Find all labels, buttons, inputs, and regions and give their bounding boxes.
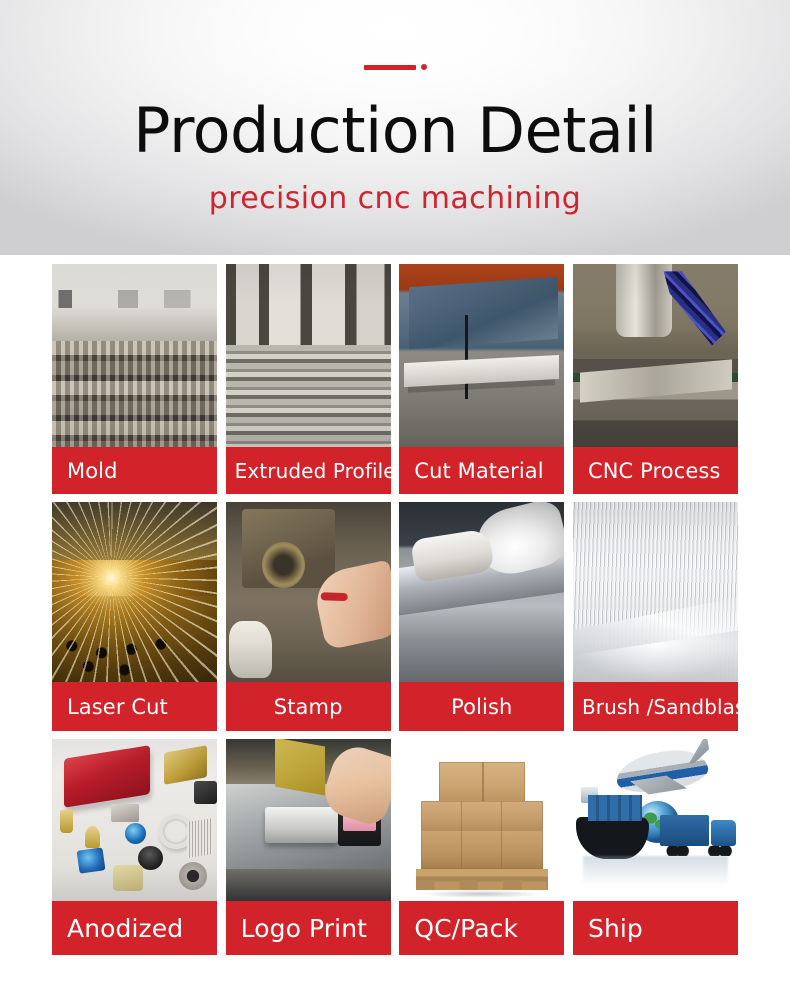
photo-stamping-press-operator bbox=[226, 502, 391, 682]
photo-hand-polishing-aluminium bbox=[399, 502, 564, 682]
card-label-qc-pack: QC/Pack bbox=[399, 901, 564, 955]
process-card-stamp[interactable]: Stamp bbox=[226, 502, 391, 731]
photo-logistics-plane-globe-ship-truck bbox=[573, 739, 738, 901]
card-label-logo-print: Logo Print bbox=[226, 901, 391, 955]
card-label-stamp: Stamp bbox=[226, 682, 391, 731]
process-card-polish[interactable]: Polish bbox=[399, 502, 564, 731]
process-card-laser-cut[interactable]: Laser Cut bbox=[52, 502, 217, 731]
photo-laser-cutting-sparks bbox=[52, 502, 217, 682]
process-card-grid: Mold Extruded Profile Cut Material bbox=[0, 255, 790, 955]
card-label-ship: Ship bbox=[573, 901, 738, 955]
card-label-mold: Mold bbox=[52, 447, 217, 494]
process-card-brush-sandblast[interactable]: Brush /Sandblast bbox=[573, 502, 738, 731]
card-label-extruded-profile: Extruded Profile bbox=[226, 447, 391, 494]
card-row: Mold Extruded Profile Cut Material bbox=[0, 264, 790, 494]
card-label-cut-material: Cut Material bbox=[399, 447, 564, 494]
card-label-cnc-process: CNC Process bbox=[573, 447, 738, 494]
process-card-qc-pack[interactable]: QC/Pack bbox=[399, 739, 564, 955]
card-label-polish: Polish bbox=[399, 682, 564, 731]
photo-factory-mold-racks bbox=[52, 264, 217, 447]
process-card-cut-material[interactable]: Cut Material bbox=[399, 264, 564, 494]
process-card-extruded-profile[interactable]: Extruded Profile bbox=[226, 264, 391, 494]
photo-brushed-sandblasted-surface bbox=[573, 502, 738, 682]
photo-cartons-on-pallet bbox=[399, 739, 564, 901]
card-label-brush-sandblast: Brush /Sandblast bbox=[573, 682, 738, 731]
card-row: Anodized Logo Print bbox=[0, 739, 790, 955]
production-detail-banner: Production Detail precision cnc machinin… bbox=[0, 0, 790, 1007]
card-row: Laser Cut Stamp Polish bbox=[0, 502, 790, 731]
process-card-mold[interactable]: Mold bbox=[52, 264, 217, 494]
page-header: Production Detail precision cnc machinin… bbox=[0, 0, 790, 255]
photo-anodized-colored-parts bbox=[52, 739, 217, 901]
process-card-anodized[interactable]: Anodized bbox=[52, 739, 217, 955]
photo-cnc-milling-spindle bbox=[573, 264, 738, 447]
process-card-logo-print[interactable]: Logo Print bbox=[226, 739, 391, 955]
photo-logo-printing-on-panel bbox=[226, 739, 391, 901]
divider-bar-icon bbox=[364, 65, 416, 70]
card-label-laser-cut: Laser Cut bbox=[52, 682, 217, 731]
page-title: Production Detail bbox=[133, 100, 657, 162]
process-card-ship[interactable]: Ship bbox=[573, 739, 738, 955]
divider-dot-icon bbox=[421, 64, 427, 70]
header-divider-decoration bbox=[364, 62, 427, 72]
process-card-cnc-process[interactable]: CNC Process bbox=[573, 264, 738, 494]
card-label-anodized: Anodized bbox=[52, 901, 217, 955]
photo-extruded-aluminium-profiles bbox=[226, 264, 391, 447]
photo-bandsaw-cutting-material bbox=[399, 264, 564, 447]
page-subtitle: precision cnc machining bbox=[209, 184, 581, 214]
